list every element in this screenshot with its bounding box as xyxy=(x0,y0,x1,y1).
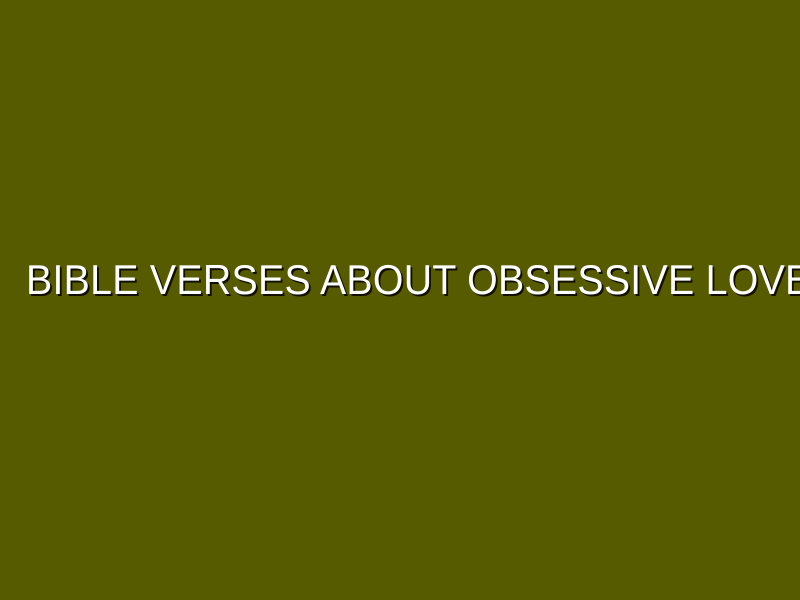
title-card: BIBLE VERSES ABOUT OBSESSIVE LOVE xyxy=(0,0,800,600)
page-title: BIBLE VERSES ABOUT OBSESSIVE LOVE xyxy=(26,257,774,303)
title-text-container: BIBLE VERSES ABOUT OBSESSIVE LOVE xyxy=(0,0,800,600)
